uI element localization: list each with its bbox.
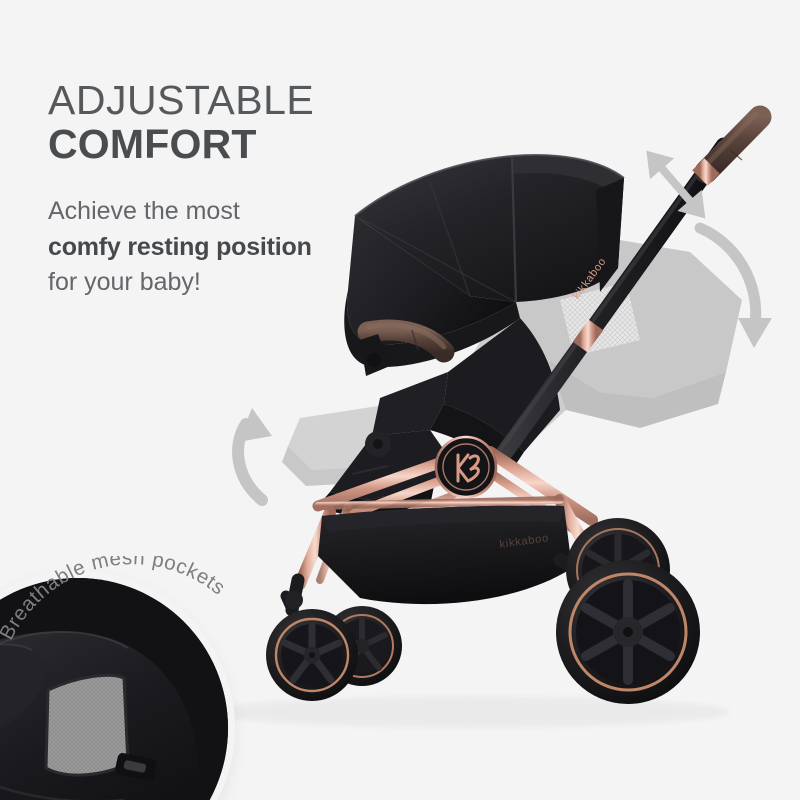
product-feature-poster: ADJUSTABLE COMFORT Achieve the most comf… <box>0 0 800 800</box>
rear-wheel-near <box>556 560 700 704</box>
ground-shadow <box>210 696 730 728</box>
storage-basket: kikkaboo <box>318 505 572 604</box>
footrest-arrow <box>238 408 272 500</box>
hub-logo-badge[interactable] <box>436 437 496 497</box>
front-wheel-front <box>266 609 358 701</box>
